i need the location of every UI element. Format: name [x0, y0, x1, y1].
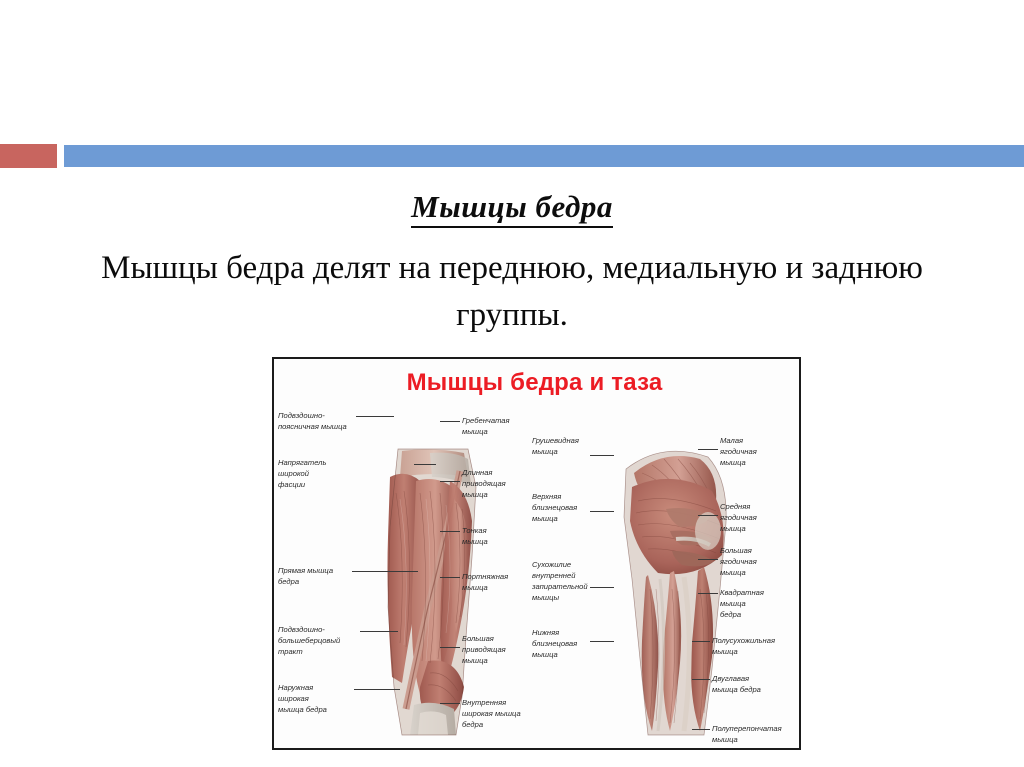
- label-sartorius: Портняжная мышца: [462, 571, 532, 593]
- leader-line: [692, 729, 710, 730]
- leader-line: [440, 421, 460, 422]
- label-pectineus: Гребенчатая мышца: [462, 415, 528, 437]
- page-title: Мышцы бедра: [0, 189, 1024, 225]
- label-gemellus-superior: Верхняя близнецовая мышца: [532, 491, 592, 524]
- label-semitendinosus: Полусухожильная мышца: [712, 635, 794, 657]
- figure-heading: Мышцы бедра и таза: [274, 369, 795, 397]
- leader-line: [698, 559, 718, 560]
- leader-line: [590, 511, 614, 512]
- label-quadratus-femoris: Квадратная мышца бедра: [720, 587, 786, 620]
- leader-line: [440, 481, 460, 482]
- label-gemellus-inferior: Нижняя близнецовая мышца: [532, 627, 592, 660]
- label-obturator-internus-tendon: Сухожилие внутренней запирательной мышцы: [532, 559, 596, 603]
- anatomy-figure: Мышцы бедра и таза: [272, 357, 801, 750]
- leader-line: [360, 631, 398, 632]
- page-title-text: Мышцы бедра: [411, 189, 613, 228]
- label-semimembranosus: Полуперепончатая мышца: [712, 723, 798, 745]
- leader-line: [352, 571, 418, 572]
- leader-line: [440, 647, 460, 648]
- label-piriformis: Грушевидная мышца: [532, 435, 592, 457]
- label-gracilis: Тонкая мышца: [462, 525, 528, 547]
- leader-line: [440, 531, 460, 532]
- leader-line: [692, 679, 710, 680]
- leader-line: [354, 689, 400, 690]
- slide-body-text: Мышцы бедра делят на переднюю, медиальну…: [62, 245, 962, 339]
- label-biceps-femoris: Двуглавая мышца бедра: [712, 673, 788, 695]
- label-iliopsoas: Подвздошно- поясничная мышца: [278, 410, 358, 432]
- leader-line: [698, 515, 718, 516]
- label-gluteus-minimus: Малая ягодичная мышца: [720, 435, 786, 468]
- decoration-bar-blue: [64, 145, 1024, 167]
- leader-line: [692, 641, 710, 642]
- label-adductor-longus: Длинная приводящая мышца: [462, 467, 528, 500]
- leader-line: [414, 464, 436, 465]
- leader-line: [698, 449, 718, 450]
- leader-line: [440, 577, 460, 578]
- label-adductor-magnus: Большая приводящая мышца: [462, 633, 528, 666]
- header-decoration-bars: [0, 143, 1024, 169]
- leader-line: [698, 593, 718, 594]
- decoration-bar-red: [0, 144, 57, 168]
- label-iliotibial-tract: Подвздошно- большеберцовый тракт: [278, 624, 360, 657]
- label-gluteus-medius: Средняя ягодичная мышца: [720, 501, 786, 534]
- label-gluteus-maximus: Большая ягодичная мышца: [720, 545, 786, 578]
- label-rectus-femoris: Прямая мышца бедра: [278, 565, 352, 587]
- leader-line: [356, 416, 394, 417]
- label-vastus-lateralis: Наружная широкая мышца бедра: [278, 682, 352, 715]
- leader-line: [590, 455, 614, 456]
- leader-line: [440, 703, 460, 704]
- label-vastus-medialis: Внутренняя широкая мышца бедра: [462, 697, 540, 730]
- leader-line: [590, 641, 614, 642]
- label-tensor-fasciae-latae: Напрягатель широкой фасции: [278, 457, 340, 490]
